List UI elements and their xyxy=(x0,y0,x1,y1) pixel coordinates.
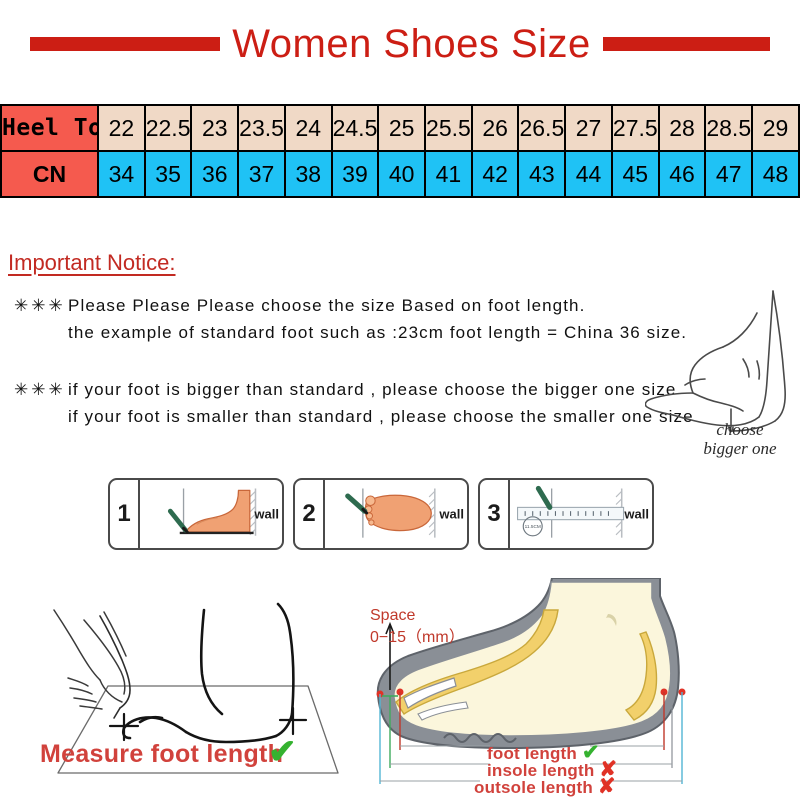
step-3-illustration: 11.5CM wall xyxy=(510,480,652,548)
choose-bigger-caption: choose bigger one xyxy=(680,420,800,458)
step-panel-3: 3 11.5CM xyxy=(478,478,654,550)
asterisk-icon: ✳✳✳ xyxy=(14,292,68,319)
cell-cn: 34 xyxy=(98,151,145,197)
cell-cn: 35 xyxy=(145,151,192,197)
cell-cm: 28.5 xyxy=(705,105,752,151)
row-label-cn: CN xyxy=(1,151,98,197)
choose-bigger-line1: choose xyxy=(716,420,763,439)
cell-cn: 36 xyxy=(191,151,238,197)
cell-cn: 43 xyxy=(518,151,565,197)
cell-cn: 41 xyxy=(425,151,472,197)
asterisk-icon: ✳✳✳ xyxy=(14,376,68,403)
cell-cn: 44 xyxy=(565,151,612,197)
wall-label: wall xyxy=(439,507,464,522)
page-title: Women Shoes Size xyxy=(220,24,603,64)
space-label-line2: 0−15（mm） xyxy=(370,629,465,646)
notice-line: if your foot is smaller than standard , … xyxy=(14,403,694,430)
table-row-heel-to-toe: Heel To Toe(cm) 22 22.5 23 23.5 24 24.5 … xyxy=(1,105,799,151)
notice-text: if your foot is smaller than standard , … xyxy=(68,407,694,426)
cell-cm: 25.5 xyxy=(425,105,472,151)
notice-line: ✳✳✳if your foot is bigger than standard … xyxy=(14,376,694,403)
cell-cm: 26 xyxy=(472,105,519,151)
cell-cn: 45 xyxy=(612,151,659,197)
cell-cm: 25 xyxy=(378,105,425,151)
cell-cn: 46 xyxy=(659,151,706,197)
cell-cm: 27.5 xyxy=(612,105,659,151)
table-row-cn: CN 34 35 36 37 38 39 40 41 42 43 44 45 4… xyxy=(1,151,799,197)
notice-text: Please Please Please choose the size Bas… xyxy=(68,296,585,315)
choose-bigger-line2: bigger one xyxy=(703,439,776,458)
cell-cm: 22 xyxy=(98,105,145,151)
step-panel-1: 1 wall xyxy=(108,478,284,550)
cell-cm: 26.5 xyxy=(518,105,565,151)
step-2-illustration: wall xyxy=(325,480,467,548)
check-icon: ✔ xyxy=(268,735,297,769)
cell-cm: 24 xyxy=(285,105,332,151)
notice-block-1: ✳✳✳Please Please Please choose the size … xyxy=(14,292,687,346)
outsole-length-label: outsole length xyxy=(474,778,593,797)
outsole-length-label-row: outsole length ✘ xyxy=(474,774,616,799)
cell-cn: 47 xyxy=(705,151,752,197)
space-label: Space 0−15（mm） xyxy=(370,605,465,649)
space-label-line1: Space xyxy=(370,607,415,624)
important-notice-heading: Important Notice: xyxy=(8,250,176,276)
cell-cn: 42 xyxy=(472,151,519,197)
measure-steps: 1 wall 2 xyxy=(108,478,654,550)
cross-icon: ✘ xyxy=(598,775,616,798)
size-conversion-table: Heel To Toe(cm) 22 22.5 23 23.5 24 24.5 … xyxy=(0,104,800,198)
cell-cn: 40 xyxy=(378,151,425,197)
step-number: 3 xyxy=(480,480,510,548)
notice-block-2: ✳✳✳if your foot is bigger than standard … xyxy=(14,376,694,430)
cell-cn: 48 xyxy=(752,151,799,197)
step-panel-2: 2 wall xyxy=(293,478,469,550)
wall-label: wall xyxy=(624,507,649,522)
title-rule-left xyxy=(30,37,220,51)
cell-cn: 39 xyxy=(332,151,379,197)
row-label-heel-to-toe: Heel To Toe(cm) xyxy=(1,105,98,151)
wall-label: wall xyxy=(254,507,279,522)
notice-line: ✳✳✳Please Please Please choose the size … xyxy=(14,292,687,319)
cell-cm: 22.5 xyxy=(145,105,192,151)
title-rule-right xyxy=(603,37,770,51)
svg-text:11.5CM: 11.5CM xyxy=(525,524,541,530)
notice-text: if your foot is bigger than standard , p… xyxy=(68,380,676,399)
cell-cm: 23.5 xyxy=(238,105,285,151)
step-1-illustration: wall xyxy=(140,480,282,548)
cell-cm: 29 xyxy=(752,105,799,151)
cell-cn: 38 xyxy=(285,151,332,197)
measure-foot-length-caption: Measure foot length xyxy=(40,740,283,769)
notice-line: the example of standard foot such as :23… xyxy=(14,319,687,346)
cell-cm: 24.5 xyxy=(332,105,379,151)
notice-text: the example of standard foot such as :23… xyxy=(68,323,687,342)
cell-cm: 23 xyxy=(191,105,238,151)
cell-cm: 28 xyxy=(659,105,706,151)
step-number: 2 xyxy=(295,480,325,548)
cell-cn: 37 xyxy=(238,151,285,197)
step-number: 1 xyxy=(110,480,140,548)
cell-cm: 27 xyxy=(565,105,612,151)
page-title-bar: Women Shoes Size xyxy=(0,18,800,70)
